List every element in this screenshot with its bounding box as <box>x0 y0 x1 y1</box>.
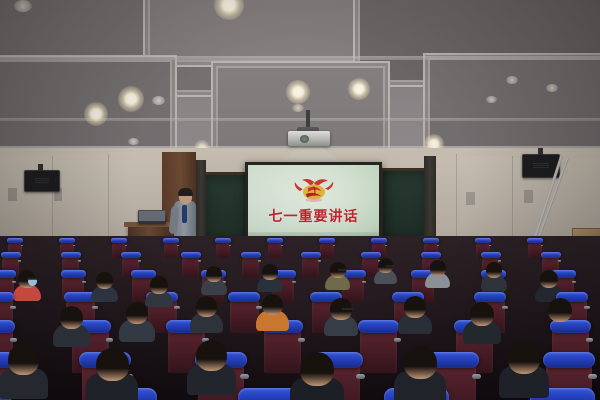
eyeglasses <box>338 269 346 271</box>
downlight-recessed <box>14 0 32 12</box>
wall-speaker-left <box>24 170 60 192</box>
wall-plate <box>524 190 533 203</box>
seat-headrest <box>541 252 561 258</box>
auditorium-photo: 七一重要讲话 <box>0 0 600 400</box>
downlight-recessed <box>128 138 139 145</box>
downlight <box>286 80 310 104</box>
attendee-head <box>470 302 494 326</box>
seat-armrest <box>78 260 81 262</box>
seat-armrest <box>584 306 590 309</box>
speaker-mount-right <box>538 148 543 155</box>
seat-headrest <box>543 352 595 368</box>
seat-back <box>268 241 282 258</box>
eyeglasses <box>27 278 36 280</box>
stage-column-left <box>196 160 206 242</box>
attendee-head <box>404 296 426 318</box>
seat-back <box>360 328 397 373</box>
seat-headrest <box>111 238 127 243</box>
downlight-recessed <box>152 96 165 105</box>
seat-armrest <box>240 374 249 379</box>
seat-headrest <box>421 252 441 258</box>
seat-headrest <box>361 252 381 258</box>
projection-screen: 七一重要讲话 <box>248 165 379 240</box>
seat-back <box>264 328 301 373</box>
seat-headrest <box>163 238 179 243</box>
seat-headrest <box>423 238 439 243</box>
seat-back <box>242 256 259 277</box>
attendee-head <box>126 302 148 324</box>
seat-headrest <box>319 238 335 243</box>
seat-headrest <box>181 252 201 258</box>
seat-armrest <box>292 281 296 283</box>
presenter-hair <box>178 188 193 196</box>
seat-armrest <box>12 281 16 283</box>
seat-armrest <box>437 245 440 247</box>
seat-back <box>230 298 259 333</box>
seat-headrest <box>0 320 15 333</box>
attendee-head <box>60 306 83 329</box>
seat-armrest <box>73 245 76 247</box>
seat-armrest <box>298 338 305 342</box>
podium-laptop-screen <box>139 211 165 221</box>
seat-back <box>528 241 542 258</box>
seat-headrest <box>215 238 231 243</box>
seat-headrest <box>475 238 491 243</box>
audience-seating-area <box>0 236 600 400</box>
attendee-head <box>196 340 227 371</box>
party-emblem-icon <box>291 177 337 207</box>
seat-back <box>320 241 334 258</box>
downlight-recessed <box>292 104 304 112</box>
seat-armrest <box>472 374 481 379</box>
seat-armrest <box>385 245 388 247</box>
seat-armrest <box>558 260 561 262</box>
eyeglasses <box>386 265 394 267</box>
projection-screen-frame: 七一重要讲话 <box>245 162 382 243</box>
seat-armrest <box>138 260 141 262</box>
downlight-recessed <box>506 76 518 84</box>
seat-armrest <box>489 245 492 247</box>
seat-headrest <box>121 252 141 258</box>
attendee-head <box>508 342 540 374</box>
seat-armrest <box>362 281 366 283</box>
stage-column-right <box>424 156 436 240</box>
seat-armrest <box>106 338 113 342</box>
seat-headrest <box>1 252 21 258</box>
seat-headrest <box>61 252 81 258</box>
seat-armrest <box>82 281 86 283</box>
attendee-head <box>430 260 446 276</box>
seat-armrest <box>174 306 180 309</box>
seat-armrest <box>229 245 232 247</box>
attendee-head <box>8 344 39 375</box>
attendee-head <box>150 276 168 294</box>
seat-armrest <box>10 306 16 309</box>
attendee-head <box>262 264 278 280</box>
ceiling-projector <box>288 131 330 146</box>
seat-armrest <box>356 374 365 379</box>
attendee-head <box>486 262 502 278</box>
seat-back <box>302 256 319 277</box>
downlight-recessed <box>546 84 558 92</box>
seat-back <box>164 241 178 258</box>
seat-back <box>216 241 230 258</box>
seat-armrest <box>258 260 261 262</box>
attendee-head <box>96 272 113 289</box>
wall-plate <box>8 188 17 201</box>
seat-armrest <box>333 245 336 247</box>
seat-armrest <box>394 338 401 342</box>
seat-headrest <box>7 238 23 243</box>
seat-armrest <box>588 374 597 379</box>
attendee-head <box>404 346 437 379</box>
seat-armrest <box>502 306 508 309</box>
attendee-head <box>96 348 129 381</box>
downlight <box>348 78 370 100</box>
seat-headrest <box>228 292 260 302</box>
wall-plate <box>466 192 475 205</box>
projector-lens-icon <box>300 135 309 143</box>
seat-armrest <box>92 306 98 309</box>
eyeglasses <box>342 308 354 310</box>
attendee-head <box>540 270 558 288</box>
seat-armrest <box>18 260 21 262</box>
seat-headrest <box>527 238 543 243</box>
seat-armrest <box>498 260 501 262</box>
seat-headrest <box>481 252 501 258</box>
slide-title: 七一重要讲话 <box>248 206 379 226</box>
attendee-head <box>196 296 217 317</box>
seat-armrest <box>586 338 593 342</box>
downlight-recessed <box>486 96 497 103</box>
seat-headrest <box>371 238 387 243</box>
seat-headrest <box>358 320 400 333</box>
seat-headrest <box>59 238 75 243</box>
seat-armrest <box>177 245 180 247</box>
downlight <box>84 102 108 126</box>
speaker-mount-left <box>38 164 43 171</box>
attendee-head <box>262 294 283 315</box>
attendee-head <box>206 266 222 282</box>
seat-armrest <box>198 260 201 262</box>
seat-headrest <box>0 292 14 302</box>
seat-armrest <box>572 281 576 283</box>
seat-armrest <box>256 306 262 309</box>
seat-armrest <box>10 338 17 342</box>
presenter-shirt <box>182 205 187 223</box>
seat-headrest <box>0 270 16 278</box>
seat-armrest <box>125 245 128 247</box>
seat-headrest <box>241 252 261 258</box>
seat-armrest <box>541 245 544 247</box>
seat-back <box>182 256 199 277</box>
seat-headrest <box>301 252 321 258</box>
seat-armrest <box>21 245 24 247</box>
seat-armrest <box>281 245 284 247</box>
downlight <box>118 86 144 112</box>
attendee-head <box>548 298 572 322</box>
seat-headrest <box>61 270 86 278</box>
seat-headrest <box>474 292 506 302</box>
seat-headrest <box>131 270 156 278</box>
seat-armrest <box>318 260 321 262</box>
ceiling-trim <box>0 56 600 60</box>
seat-headrest <box>267 238 283 243</box>
attendee-head <box>300 352 334 386</box>
